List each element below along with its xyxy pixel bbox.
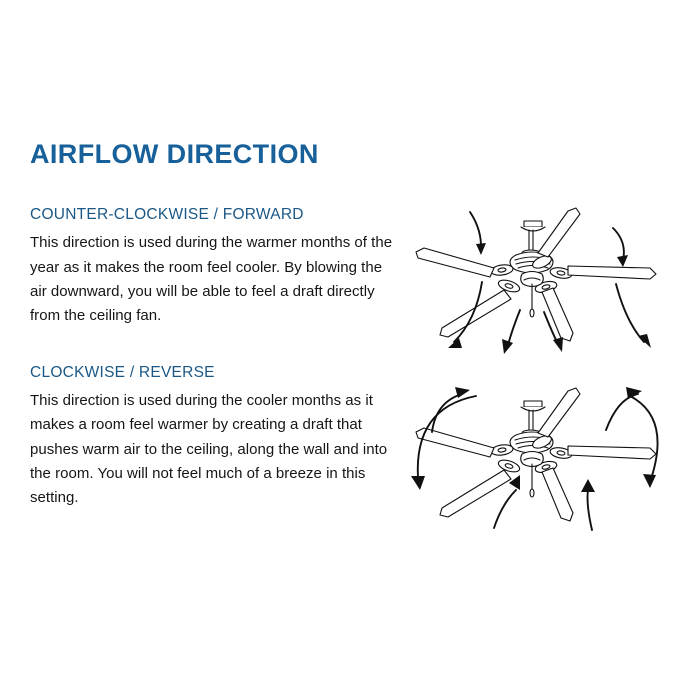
fan-light-kit-icon [521,452,544,498]
section-counter-clockwise-forward: COUNTER-CLOCKWISE / FORWARD This directi… [30,205,395,329]
section-clockwise-reverse: CLOCKWISE / REVERSE This direction is us… [30,363,395,511]
page-title: AIRFLOW DIRECTION [30,140,319,170]
content-column: COUNTER-CLOCKWISE / FORWARD This directi… [30,205,395,510]
section-heading-clockwise-reverse: CLOCKWISE / REVERSE [30,363,395,382]
ceiling-fan-forward-airflow-diagram [398,200,682,376]
ceiling-fan-reverse-airflow-diagram [398,380,682,556]
section-body-counter-clockwise-forward: This direction is used during the warmer… [30,231,395,328]
section-body-clockwise-reverse: This direction is used during the cooler… [30,389,395,510]
fan-light-kit-icon [521,272,544,318]
section-heading-counter-clockwise-forward: COUNTER-CLOCKWISE / FORWARD [30,205,395,224]
page-root: AIRFLOW DIRECTION COUNTER-CLOCKWISE / FO… [0,0,700,700]
